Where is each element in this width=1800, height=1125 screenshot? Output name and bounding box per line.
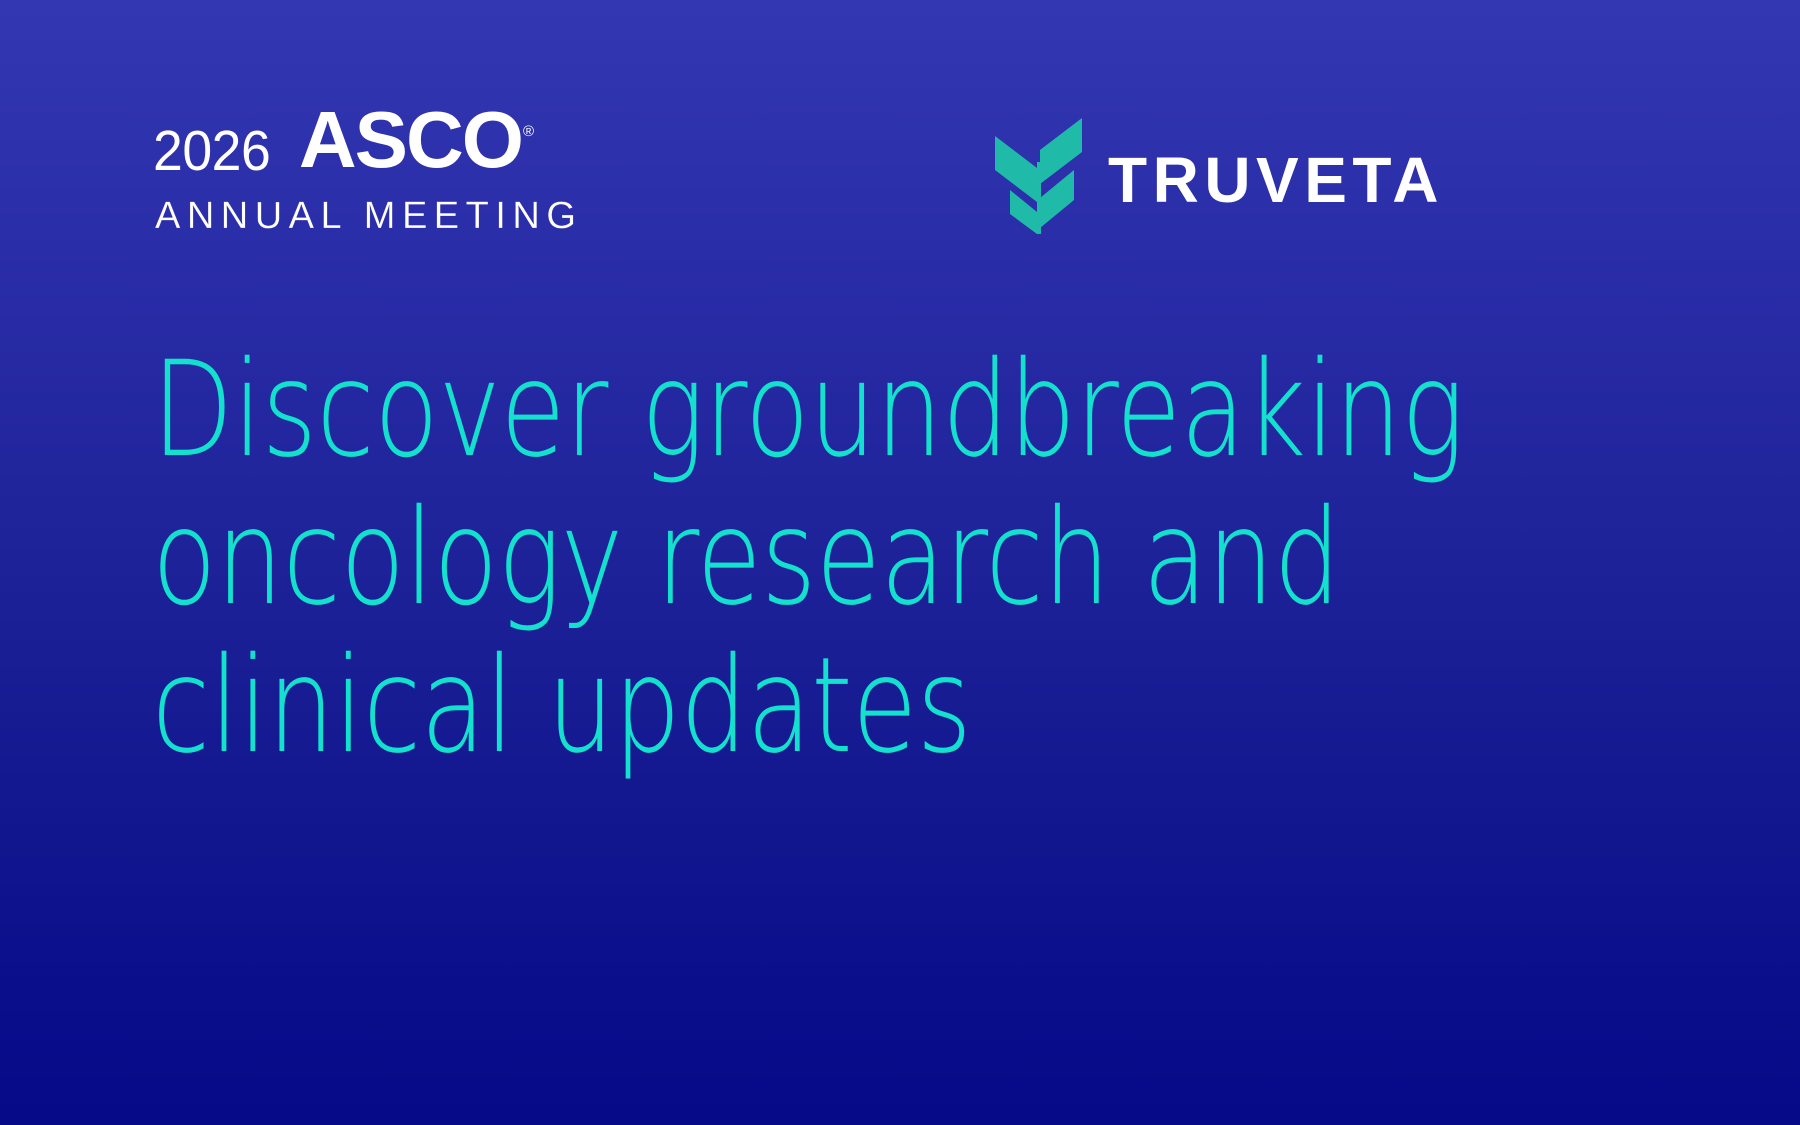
- asco-year-text: 2026: [153, 117, 270, 185]
- asco-wordmark: ASCO®: [299, 106, 531, 174]
- promo-slide: 2026 ASCO® ANNUAL MEETING TRUVETA: [0, 0, 1800, 1125]
- truveta-logo: TRUVETA: [990, 118, 1444, 234]
- logo-row: 2026 ASCO® ANNUAL MEETING TRUVETA: [0, 0, 1800, 300]
- asco-subtitle-text: ANNUAL MEETING: [155, 197, 582, 235]
- headline-line-1: Discover groundbreaking: [152, 336, 1288, 484]
- asco-annual-meeting-logo: 2026 ASCO® ANNUAL MEETING: [153, 117, 582, 235]
- headline-line-2: oncology research and: [152, 484, 1288, 632]
- asco-logo-primary-line: 2026 ASCO®: [153, 117, 582, 185]
- truveta-chevron-mark-icon: [990, 118, 1082, 234]
- headline-block: Discover groundbreaking oncology researc…: [152, 336, 1572, 780]
- headline-line-3: clinical updates: [152, 632, 1288, 780]
- truveta-wordmark-text: TRUVETA: [1108, 148, 1444, 212]
- asco-wordmark-text: ASCO: [299, 95, 522, 184]
- registered-trademark-icon: ®: [523, 123, 532, 140]
